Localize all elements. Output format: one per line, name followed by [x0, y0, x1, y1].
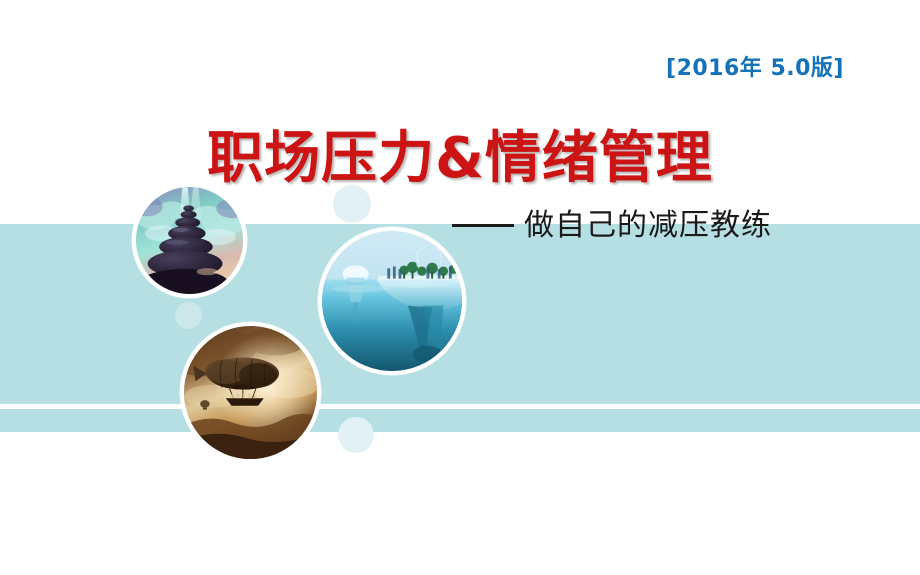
subtitle-dash-icon [452, 224, 514, 227]
deco-circle-lower [338, 417, 374, 453]
version-badge: [2016年 5.0版] [666, 50, 844, 82]
background-band-strip [0, 409, 920, 432]
desert-airship-image [180, 322, 321, 463]
zen-stacked-stones-image [132, 183, 247, 298]
subtitle-text: 做自己的减压教练 [524, 200, 772, 244]
subtitle: 做自己的减压教练 [452, 200, 772, 244]
deco-circle-middle [175, 302, 202, 329]
underwater-floating-island-image [318, 227, 466, 375]
page-title: 职场压力&情绪管理 [0, 113, 920, 194]
presentation-title-slide: [2016年 5.0版] 职场压力&情绪管理 做自己的减压教练 [0, 0, 920, 575]
